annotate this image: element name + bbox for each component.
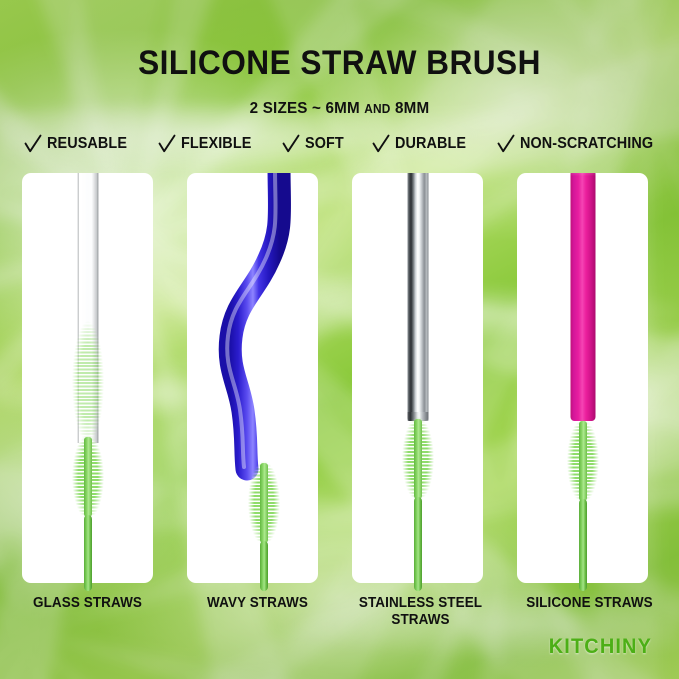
brush-head-inside-straw	[72, 321, 104, 443]
product-panel-wavy-straws	[187, 173, 318, 583]
brush-core-wire	[579, 421, 587, 501]
silicone-straw	[570, 173, 595, 421]
brush-core-wire	[260, 463, 268, 543]
product-panel-silicone-straws	[517, 173, 648, 583]
steel-straw	[407, 173, 428, 421]
feature-item-reusable: REUSABLE	[24, 134, 133, 154]
feature-label: NON-SCRATCHING	[520, 135, 653, 153]
panel-caption-stainless-steel-straws: STAINLESS STEEL STRAWS	[339, 595, 502, 629]
subtitle-tail: 8MM	[391, 100, 430, 117]
check-icon	[497, 134, 515, 154]
feature-label: DURABLE	[395, 135, 466, 153]
brush-core-wire	[414, 419, 422, 499]
feature-label: SOFT	[305, 135, 344, 153]
product-panels	[0, 173, 679, 583]
panel-caption-wavy-straws: WAVY STRAWS	[176, 595, 339, 612]
subtitle-and: AND	[364, 102, 390, 116]
panel-caption-glass-straws: GLASS STRAWS	[6, 595, 169, 612]
check-icon	[24, 134, 42, 154]
wavy-straw-body	[230, 173, 279, 469]
product-panel-glass-straws	[22, 173, 153, 583]
feature-label: FLEXIBLE	[181, 135, 251, 153]
product-panel-stainless-steel-straws	[352, 173, 483, 583]
page-subtitle: 2 SIZES ~ 6MM AND 8MM	[17, 100, 662, 118]
subtitle-main: 2 SIZES ~ 6MM	[250, 100, 365, 117]
feature-item-durable: DURABLE	[372, 134, 471, 154]
check-icon	[282, 134, 300, 154]
feature-label: REUSABLE	[47, 135, 127, 153]
check-icon	[158, 134, 176, 154]
silicone-straw-tip	[570, 173, 595, 176]
check-icon	[372, 134, 390, 154]
page-title: SILICONE STRAW BRUSH	[24, 46, 655, 80]
product-infographic: SILICONE STRAW BRUSH 2 SIZES ~ 6MM AND 8…	[0, 0, 679, 679]
brush-core-wire	[84, 437, 92, 517]
feature-list: REUSABLE FLEXIBLE SOFT DURABLE NON-SCRAT	[24, 134, 663, 154]
panel-caption-silicone-straws: SILICONE STRAWS	[506, 595, 672, 612]
brush-handle	[579, 499, 587, 591]
brush-handle	[260, 541, 268, 591]
feature-item-flexible: FLEXIBLE	[158, 134, 257, 154]
brand-logo: KITCHINY	[549, 635, 652, 659]
feature-item-non-scratching: NON-SCRATCHING	[497, 134, 663, 154]
feature-item-soft: SOFT	[282, 134, 347, 154]
brush-handle	[414, 497, 422, 591]
brush-handle	[84, 515, 92, 591]
